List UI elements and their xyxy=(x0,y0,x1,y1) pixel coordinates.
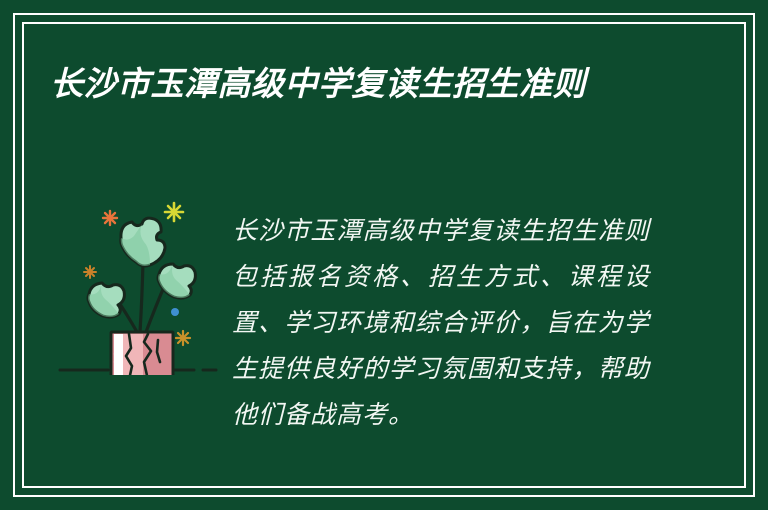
leaf-right xyxy=(158,264,195,298)
flower-pot xyxy=(111,332,173,375)
potted-plant-illustration xyxy=(58,190,228,375)
leaf-center xyxy=(121,218,165,266)
sparkle-yellow-top-right xyxy=(165,203,183,221)
poster-card: 长沙市玉潭高级中学复读生招生准则 xyxy=(0,0,768,510)
sparkle-amber-right xyxy=(176,331,190,345)
page-title: 长沙市玉潭高级中学复读生招生准则 xyxy=(50,58,650,110)
dot-blue-right xyxy=(171,308,179,316)
sparkle-amber-left xyxy=(84,266,96,278)
body-paragraph: 长沙市玉潭高级中学复读生招生准则包括报名资格、招生方式、课程设置、学习环境和综合… xyxy=(232,208,650,438)
sparkle-orange-top xyxy=(103,211,117,225)
leaf-left xyxy=(88,283,124,317)
